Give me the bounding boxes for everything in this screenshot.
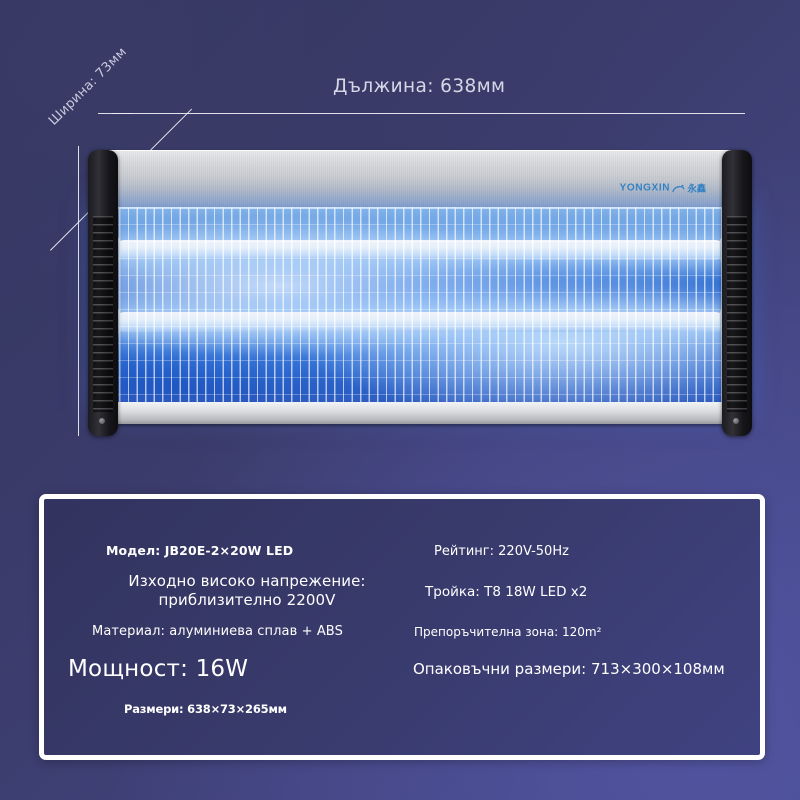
length-dimension-line [112, 113, 745, 114]
screw-icon [99, 418, 105, 424]
screw-icon [733, 418, 739, 424]
length-label: Дължина: 638мм [333, 76, 505, 97]
end-cap-right [722, 150, 752, 436]
spec-lamp: Тройка: T8 18W LED x2 [425, 584, 587, 601]
spec-rating: Рейтинг: 220V-50Hz [434, 544, 569, 561]
spec-dimensions: Размери: 638×73×265мм [124, 702, 287, 717]
vent-slots-icon [93, 216, 113, 412]
spec-model: Модел: JB20E-2×20W LED [106, 543, 293, 559]
brand-logo: YONGXIN 永鑫 [620, 181, 706, 195]
end-cap-left [88, 150, 118, 436]
spec-output-voltage: Изходно високо напрежение: приблизително… [102, 572, 392, 610]
width-label: Ширина: 73мм [46, 45, 130, 129]
insect-killer-device: YONGXIN 永鑫 [92, 150, 748, 436]
brand-name-cn: 永鑫 [688, 181, 706, 195]
spec-package-dimensions: Опаковъчни размери: 713×300×108мм [413, 660, 725, 679]
length-dimension-tick [98, 113, 132, 114]
device-top-housing: YONGXIN 永鑫 [92, 150, 748, 212]
product-infographic: Дължина: 638мм Ширина: 73мм YONGXIN 永鑫 [0, 0, 800, 800]
spec-material: Материал: алуминиева сплав + ABS [92, 624, 343, 641]
spec-power: Мощност: 16W [68, 655, 248, 684]
brand-name-latin: YONGXIN [620, 182, 671, 193]
uv-grid-panel [102, 207, 738, 405]
height-dimension-line [78, 146, 79, 436]
vent-slots-icon [727, 216, 747, 412]
spec-recommended-area: Препоръчителна зона: 120m² [414, 625, 601, 640]
device-collection-tray [106, 402, 734, 424]
specifications-panel: Модел: JB20E-2×20W LED Изходно високо на… [39, 494, 765, 760]
grid-frame [102, 207, 738, 405]
swirl-icon [672, 182, 686, 194]
